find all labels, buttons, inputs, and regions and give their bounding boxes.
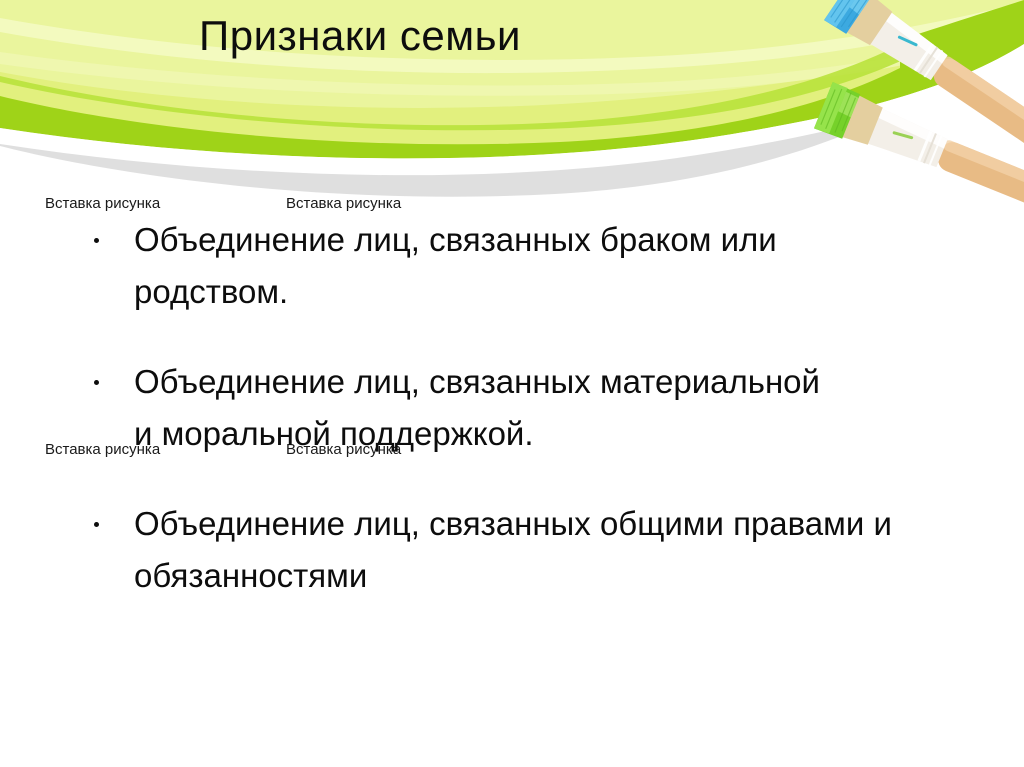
blue-paintbrush [824,0,1024,166]
green-paintbrush [814,82,1024,204]
picture-placeholder-caption: Вставка рисунка [45,195,160,213]
bullet-list: Объединение лиц, связанных браком или ро… [86,214,946,602]
picture-placeholder-caption: Вставка рисунка [286,195,401,213]
page-title: Признаки семьи [0,13,720,59]
list-item: Объединение лиц, связанных браком или ро… [86,214,946,318]
paintbrushes-image [812,0,1024,204]
list-item: Объединение лиц, связанных общими правам… [86,498,946,602]
list-item-label: Объединение лиц, связанных общими правам… [134,498,894,602]
list-item-label: Объединение лиц, связанных материальной … [134,356,834,460]
list-item: Объединение лиц, связанных материальной … [86,356,946,460]
list-item-label: Объединение лиц, связанных браком или ро… [134,214,834,318]
presentation-slide: Признаки семьи [0,0,1024,767]
